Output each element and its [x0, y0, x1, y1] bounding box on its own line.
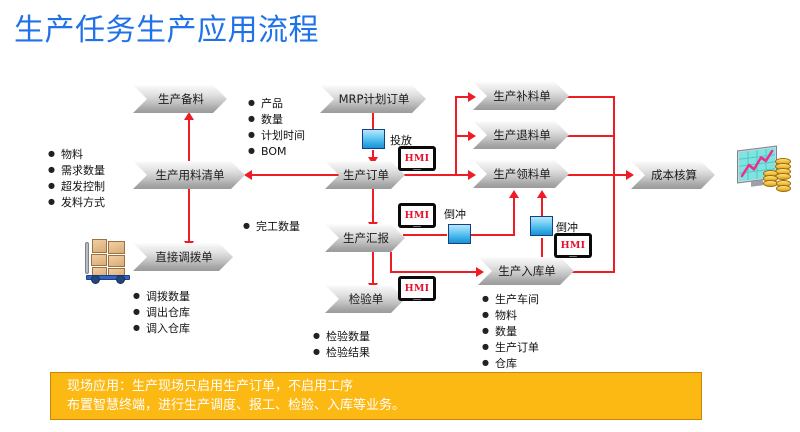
connector-order-to-report [372, 189, 374, 224]
crate [108, 255, 125, 267]
bullet-item: 数量 [248, 111, 305, 127]
hmi-icon[interactable]: HMI [554, 233, 592, 258]
bullets-stockin-attributes: 生产车间 物料 数量 生产订单 仓库 [482, 291, 539, 371]
bullet-item: 检验结果 [313, 344, 370, 360]
bullet-item: 调入仓库 [133, 320, 190, 336]
bullet-item: 检验数量 [313, 328, 370, 344]
cost-monitor-coins-icon [735, 146, 793, 201]
bullet-item: 生产车间 [482, 291, 539, 307]
hand-truck-boxes-icon [82, 236, 132, 284]
bullet-item: 物料 [48, 146, 105, 162]
arrowhead-right-tuiliao [468, 131, 476, 141]
node-label: MRP计划订单 [339, 91, 410, 107]
bullets-material-attributes: 物料 需求数量 超发控制 发料方式 [48, 146, 105, 210]
bullets-transfer-attributes: 调拨数量 调出仓库 调入仓库 [133, 288, 190, 336]
node-mrp-plan-order[interactable]: MRP计划订单 [320, 85, 426, 113]
node-label: 生产汇报 [343, 230, 389, 246]
backflush-node-low[interactable] [530, 216, 553, 236]
node-label: 生产备料 [158, 91, 204, 107]
banner-line-1: 现场应用：生产现场只启用生产订单，不启用工序 [67, 377, 701, 396]
connector-report-to-stockin-h [390, 271, 478, 273]
bullet-item: 超发控制 [48, 178, 105, 194]
connector-tuiliao-out [565, 135, 615, 137]
hmi-screen-label: HMI [401, 149, 433, 168]
hmi-screen-label: HMI [401, 206, 433, 225]
backflush-node-mid[interactable] [448, 224, 471, 244]
node-production-prep[interactable]: 生产备料 [133, 85, 227, 113]
hmi-screen-label: HMI [557, 236, 589, 255]
crate [91, 254, 107, 266]
banner-line-2: 布置智慧终端，进行生产调度、报工、检验、入库等业务。 [67, 396, 701, 415]
connector-backflush-riser [513, 196, 515, 234]
node-label: 生产订单 [343, 167, 389, 183]
hmi-icon[interactable]: HMI [398, 146, 436, 171]
connector-report-to-stockin-v [390, 252, 392, 273]
bullet-item: 调出仓库 [133, 304, 190, 320]
arrowhead-right-buliao [468, 92, 476, 102]
truck-handle [85, 242, 89, 274]
bullet-item: 仓库 [482, 355, 539, 371]
node-label: 生产领料单 [493, 166, 551, 182]
field-application-banner: 现场应用：生产现场只启用生产订单，不启用工序 布置智慧终端，进行生产调度、报工、… [50, 372, 702, 420]
connector-lingliao-out [565, 174, 615, 176]
connector-report-to-inspect [372, 252, 374, 285]
flowchart-canvas: 生产任务生产应用流程 生产备料 [0, 0, 800, 432]
bullet-item: 调拨数量 [133, 288, 190, 304]
node-label: 生产退料单 [493, 127, 551, 143]
crate [108, 241, 125, 254]
arrowhead-up-prep [184, 112, 194, 120]
bullet-item: 完工数量 [243, 218, 300, 234]
node-label: 成本核算 [651, 167, 697, 183]
bullet-item: 发料方式 [48, 194, 105, 210]
node-material-return[interactable]: 生产退料单 [473, 121, 569, 149]
bullets-inspection-attributes: 检验数量 检验结果 [313, 328, 370, 360]
connector-bom-to-transfer [188, 189, 190, 243]
monitor-base [751, 180, 763, 186]
truck-wheel [116, 275, 125, 284]
hmi-screen-label: HMI [401, 279, 433, 298]
arrowhead-right-stockin [476, 267, 484, 277]
backflush-label-mid: 倒冲 [444, 206, 466, 222]
node-production-report[interactable]: 生产汇报 [325, 224, 405, 252]
bullet-item: 计划时间 [248, 127, 305, 143]
node-label: 生产用料清单 [156, 167, 225, 183]
node-cost-accounting[interactable]: 成本核算 [631, 161, 715, 189]
connector-backflush-to-riser [470, 234, 515, 236]
bullet-item: 需求数量 [48, 162, 105, 178]
arrowhead-right-cost [626, 170, 634, 180]
bullets-report-attributes: 完工数量 [243, 218, 300, 234]
release-node[interactable] [362, 129, 385, 149]
node-label: 生产补料单 [493, 88, 551, 104]
node-direct-transfer[interactable]: 直接调拨单 [133, 243, 233, 271]
hmi-icon[interactable]: HMI [398, 276, 436, 301]
connector-order-to-bom [250, 174, 340, 176]
node-material-replenish[interactable]: 生产补料单 [473, 82, 569, 110]
node-material-list[interactable]: 生产用料清单 [133, 161, 245, 189]
node-label: 检验单 [349, 291, 384, 307]
connector-buliao-out [565, 96, 615, 98]
connector-bom-to-prep [188, 118, 190, 163]
bullet-item: 生产订单 [482, 339, 539, 355]
hmi-icon[interactable]: HMI [398, 203, 436, 228]
arrowhead-up-lingliao-b [537, 190, 547, 198]
crate [92, 239, 107, 253]
node-inspection[interactable]: 检验单 [325, 285, 405, 313]
connector-report-to-backflush [403, 234, 447, 236]
arrowhead-right-lingliao [468, 170, 476, 180]
connector-mrp-to-release [372, 113, 374, 130]
connector-cost-bus [613, 96, 615, 273]
truck-wheel [91, 275, 100, 284]
bullet-item: 数量 [482, 323, 539, 339]
page-title: 生产任务生产应用流程 [14, 14, 319, 48]
coin-stack [776, 185, 791, 192]
node-label: 直接调拨单 [155, 249, 213, 265]
arrowhead-left-bom [244, 170, 252, 180]
arrowhead-up-lingliao-a [509, 190, 519, 198]
bullets-mrp-attributes: 产品 数量 计划时间 BOM [248, 95, 305, 159]
node-stock-in[interactable]: 生产入库单 [478, 257, 574, 285]
node-material-issue[interactable]: 生产领料单 [473, 160, 569, 188]
bullet-item: 物料 [482, 307, 539, 323]
connector-backflush2-riser [541, 196, 543, 218]
node-label: 生产入库单 [498, 263, 556, 279]
bullet-item: 产品 [248, 95, 305, 111]
bullet-item: BOM [248, 143, 305, 159]
